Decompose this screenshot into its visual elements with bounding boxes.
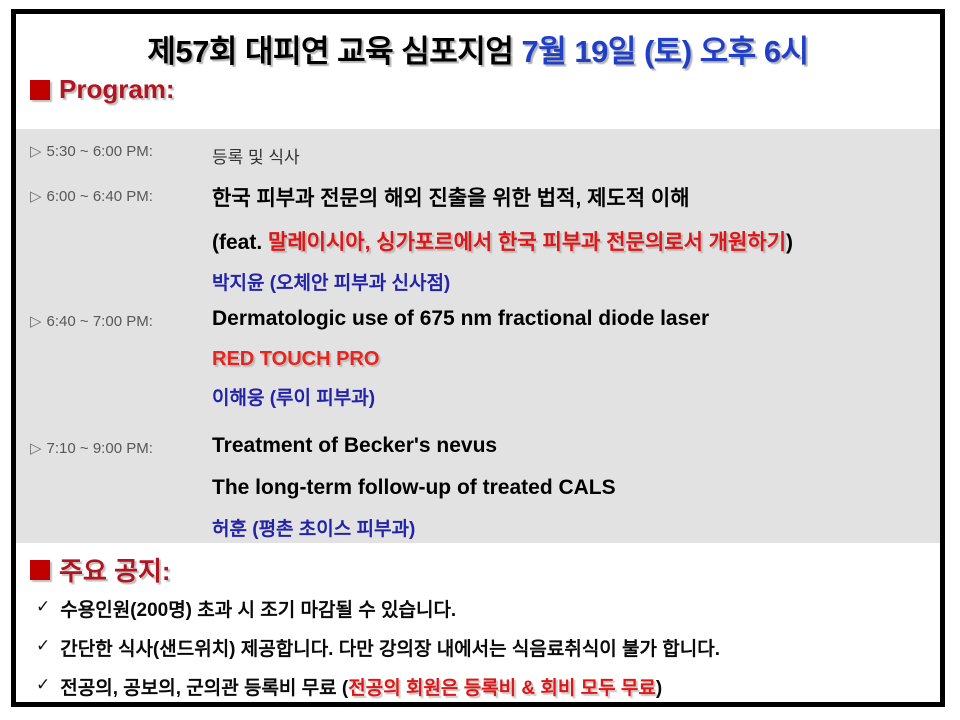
program-row-time: ▷ 5:30 ~ 6:00 PM:: [16, 143, 212, 168]
triangle-right-icon: ▷: [30, 441, 42, 456]
feat-prefix: (feat.: [212, 231, 268, 254]
program-row-time: ▷ 7:10 ~ 9:00 PM:: [16, 434, 212, 541]
program-line-title: Dermatologic use of 675 nm fractional di…: [212, 307, 940, 331]
triangle-right-icon: ▷: [30, 314, 42, 329]
list-item: ✓ 수용인원(200명) 초과 시 조기 마감될 수 있습니다.: [36, 595, 932, 622]
checkmark-icon: ✓: [36, 675, 50, 695]
program-row-body: Treatment of Becker's nevus The long-ter…: [212, 434, 940, 541]
program-heading: Program:: [30, 74, 175, 105]
list-item: ✓ 간단한 식사(샌드위치) 제공합니다. 다만 강의장 내에서는 식음료취식이…: [36, 634, 932, 661]
program-row: ▷ 6:00 ~ 6:40 PM: 한국 피부과 전문의 해외 진출을 위한 법…: [16, 182, 940, 295]
program-row-time-label: 6:00 ~ 6:40 PM:: [47, 188, 153, 205]
program-line-speaker: 박지윤 (오체안 피부과 신사점): [212, 268, 940, 295]
notice-suffix: ): [656, 678, 662, 699]
program-line-title: Treatment of Becker's nevus: [212, 434, 940, 458]
page-title: 제57회 대피연 교육 심포지엄 7월 19일 (토) 오후 6시: [16, 26, 940, 71]
program-row-time-label: 6:40 ~ 7:00 PM:: [47, 313, 153, 330]
program-line-plain: 등록 및 식사: [212, 143, 940, 168]
triangle-right-icon: ▷: [30, 189, 42, 204]
program-line-brand: RED TOUCH PRO: [212, 348, 940, 371]
checkmark-icon: ✓: [36, 636, 50, 656]
page-title-datetime: 7월 19일 (토) 오후 6시: [521, 34, 808, 69]
program-row-time: ▷ 6:00 ~ 6:40 PM:: [16, 182, 212, 295]
list-item: ✓ 전공의, 공보의, 군의관 등록비 무료 (전공의 회원은 등록비 & 회비…: [36, 673, 932, 700]
program-row-time: ▷ 6:40 ~ 7:00 PM:: [16, 307, 212, 410]
program-row-time-label: 7:10 ~ 9:00 PM:: [47, 440, 153, 457]
program-row-body: 한국 피부과 전문의 해외 진출을 위한 법적, 제도적 이해 (feat. 말…: [212, 182, 940, 295]
notice-item-text: 전공의, 공보의, 군의관 등록비 무료 (전공의 회원은 등록비 & 회비 모…: [60, 673, 662, 700]
notice-section: 주요 공지: ✓ 수용인원(200명) 초과 시 조기 마감될 수 있습니다. …: [16, 543, 940, 702]
program-heading-label: Program:: [59, 74, 175, 105]
program-row: ▷ 7:10 ~ 9:00 PM: Treatment of Becker's …: [16, 434, 940, 541]
notice-item-text: 수용인원(200명) 초과 시 조기 마감될 수 있습니다.: [60, 595, 456, 622]
checkmark-icon: ✓: [36, 597, 50, 617]
program-row: ▷ 6:40 ~ 7:00 PM: Dermatologic use of 67…: [16, 307, 940, 410]
program-row-time-label: 5:30 ~ 6:00 PM:: [47, 143, 153, 160]
filled-square-icon: [30, 560, 50, 580]
filled-square-icon: [30, 80, 50, 100]
poster-header: 제57회 대피연 교육 심포지엄 7월 19일 (토) 오후 6시 Progra…: [16, 14, 940, 129]
program-line-speaker: 허훈 (평촌 초이스 피부과): [212, 514, 940, 541]
notice-prefix: 전공의, 공보의, 군의관 등록비 무료 (: [60, 678, 348, 699]
notice-highlight: 전공의 회원은 등록비 & 회비 모두 무료: [348, 678, 656, 699]
notice-heading-label: 주요 공지:: [59, 551, 171, 588]
feat-highlight: 말레이시아, 싱가포르에서 한국 피부과 전문의로서 개원하기: [268, 231, 786, 254]
page-title-main: 제57회 대피연 교육 심포지엄: [147, 34, 513, 69]
notice-heading: 주요 공지:: [30, 551, 171, 588]
program-line-title: 한국 피부과 전문의 해외 진출을 위한 법적, 제도적 이해: [212, 182, 940, 212]
notice-item-text: 간단한 식사(샌드위치) 제공합니다. 다만 강의장 내에서는 식음료취식이 불…: [60, 634, 720, 661]
program-line-feat: (feat. 말레이시아, 싱가포르에서 한국 피부과 전문의로서 개원하기): [212, 226, 940, 256]
program-band: ▷ 5:30 ~ 6:00 PM: 등록 및 식사 ▷ 6:00 ~ 6:40 …: [16, 129, 940, 543]
feat-suffix: ): [786, 231, 793, 254]
program-row-body: Dermatologic use of 675 nm fractional di…: [212, 307, 940, 410]
program-line-speaker: 이해웅 (루이 피부과): [212, 383, 940, 410]
notice-list: ✓ 수용인원(200명) 초과 시 조기 마감될 수 있습니다. ✓ 간단한 식…: [36, 595, 932, 712]
triangle-right-icon: ▷: [30, 144, 42, 159]
program-line-title: The long-term follow-up of treated CALS: [212, 476, 940, 500]
program-row-body: 등록 및 식사: [212, 143, 940, 168]
program-row: ▷ 5:30 ~ 6:00 PM: 등록 및 식사: [16, 143, 940, 168]
poster-frame: 제57회 대피연 교육 심포지엄 7월 19일 (토) 오후 6시 Progra…: [11, 9, 945, 707]
